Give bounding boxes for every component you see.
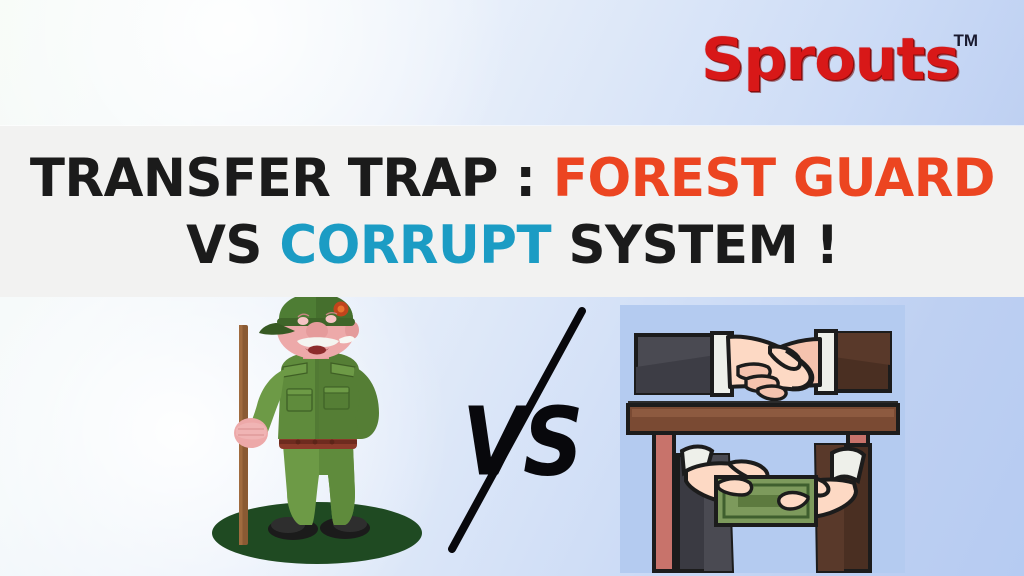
title-part-colon: :: [515, 148, 535, 209]
forest-guard-svg: [195, 297, 435, 576]
illustration-stage: VS: [0, 297, 1024, 576]
title-line-1: TRANSFER TRAP : FOREST GUARD: [29, 152, 994, 205]
title-part-corrupt: CORRUPT: [279, 215, 551, 276]
title-part-forest-guard: FOREST GUARD: [552, 148, 994, 209]
bribe-handshake-svg: [620, 305, 905, 573]
title-line-2: VS CORRUPT SYSTEM !: [186, 219, 838, 272]
brand-logo: Sprouts TM: [701, 30, 978, 88]
title-part-transfer-trap: TRANSFER TRAP: [29, 148, 497, 209]
title-band: TRANSFER TRAP : FOREST GUARD VS CORRUPT …: [0, 126, 1024, 297]
versus-badge: VS: [440, 297, 600, 576]
brand-name: Sprouts: [701, 30, 959, 88]
forest-guard-illustration: [195, 297, 435, 576]
video-thumbnail: Sprouts TM TRANSFER TRAP : FOREST GUARD …: [0, 0, 1024, 576]
versus-label: VS: [462, 395, 580, 489]
bribe-handshake-illustration: [620, 305, 905, 573]
title-part-vs: VS: [186, 215, 262, 276]
title-part-system: SYSTEM !: [568, 215, 838, 276]
